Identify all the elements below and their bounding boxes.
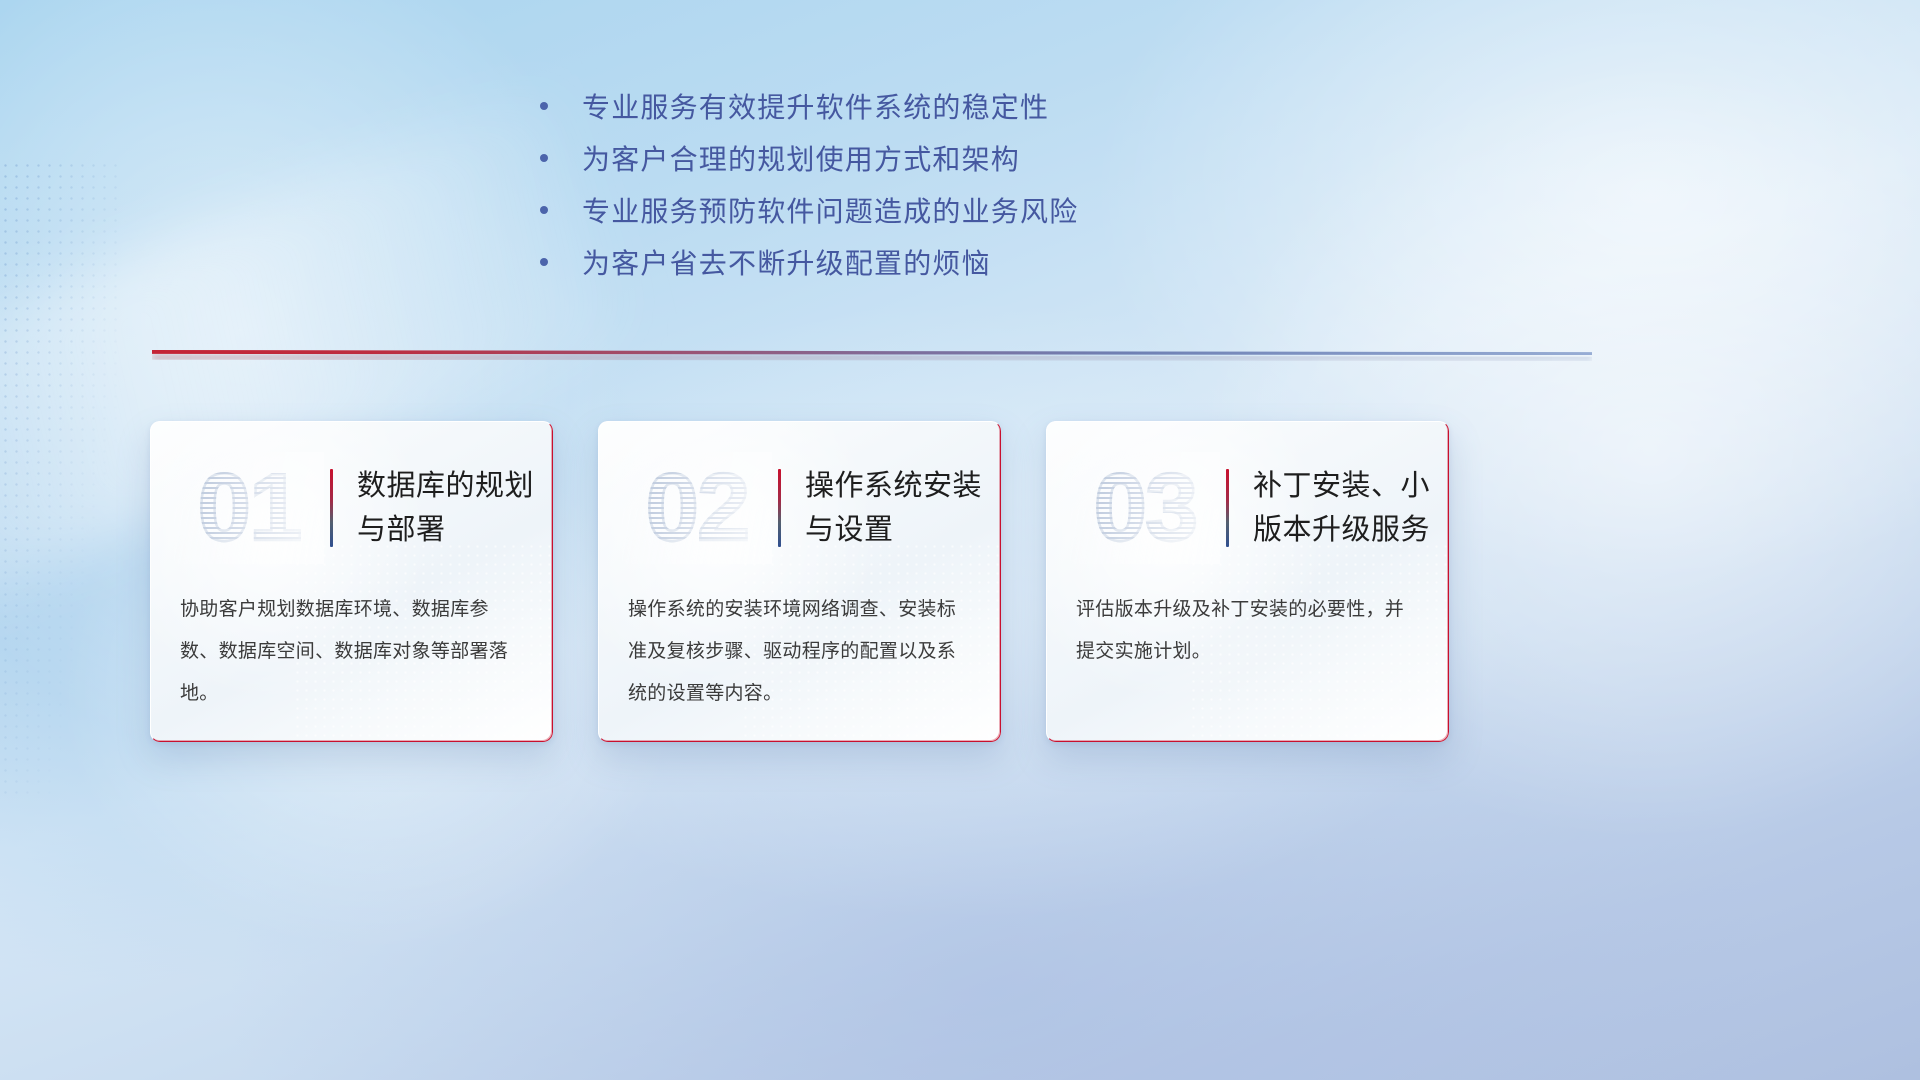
bullet-text: 为客户合理的规划使用方式和架构: [582, 138, 1020, 178]
card-header: 03 补丁安装、小版本升级服务: [1046, 445, 1449, 571]
card-accent-bar: [1226, 469, 1229, 547]
service-card-01[interactable]: 01 数据库的规划与部署 协助客户规划数据库环境、数据库参数、数据库空间、数据库…: [150, 421, 553, 742]
card-title: 数据库的规划与部署: [357, 464, 553, 552]
divider-shadow: [152, 354, 1592, 361]
slide-canvas: 专业服务有效提升软件系统的稳定性 为客户合理的规划使用方式和架构 专业服务预防软…: [0, 0, 1920, 1080]
card-body-text: 协助客户规划数据库环境、数据库参数、数据库空间、数据库对象等部署落地。: [180, 589, 527, 715]
bullet-text: 专业服务预防软件问题造成的业务风险: [582, 190, 1078, 230]
service-card-03[interactable]: 03 补丁安装、小版本升级服务 评估版本升级及补丁安装的必要性，并提交实施计划。: [1046, 421, 1449, 742]
card-header: 01 数据库的规划与部署: [150, 445, 553, 571]
card-number-watermark: 02: [622, 452, 772, 564]
card-number-watermark: 03: [1070, 452, 1220, 564]
bullet-dot-icon: [540, 206, 548, 214]
card-body-text: 评估版本升级及补丁安装的必要性，并提交实施计划。: [1076, 589, 1423, 673]
list-item: 专业服务预防软件问题造成的业务风险: [540, 190, 1540, 242]
bullet-text: 为客户省去不断升级配置的烦恼: [582, 242, 991, 282]
benefit-bullet-list: 专业服务有效提升软件系统的稳定性 为客户合理的规划使用方式和架构 专业服务预防软…: [540, 86, 1540, 294]
bullet-dot-icon: [540, 102, 548, 110]
bullet-dot-icon: [540, 258, 548, 266]
card-number-watermark: 01: [174, 452, 324, 564]
list-item: 专业服务有效提升软件系统的稳定性: [540, 86, 1540, 138]
service-card-row: 01 数据库的规划与部署 协助客户规划数据库环境、数据库参数、数据库空间、数据库…: [150, 421, 1750, 742]
card-title: 操作系统安装与设置: [805, 464, 1001, 552]
section-divider: [152, 348, 1592, 364]
list-item: 为客户省去不断升级配置的烦恼: [540, 242, 1540, 294]
bullet-dot-icon: [540, 154, 548, 162]
card-header: 02 操作系统安装与设置: [598, 445, 1001, 571]
card-accent-bar: [330, 469, 333, 547]
divider-line: [152, 350, 1592, 355]
card-body-text: 操作系统的安装环境网络调查、安装标准及复核步骤、驱动程序的配置以及系统的设置等内…: [628, 589, 975, 715]
service-card-02[interactable]: 02 操作系统安装与设置 操作系统的安装环境网络调查、安装标准及复核步骤、驱动程…: [598, 421, 1001, 742]
list-item: 为客户合理的规划使用方式和架构: [540, 138, 1540, 190]
background-dot-texture: [0, 160, 120, 800]
bullet-text: 专业服务有效提升软件系统的稳定性: [582, 86, 1049, 126]
card-accent-bar: [778, 469, 781, 547]
card-title: 补丁安装、小版本升级服务: [1253, 464, 1449, 552]
